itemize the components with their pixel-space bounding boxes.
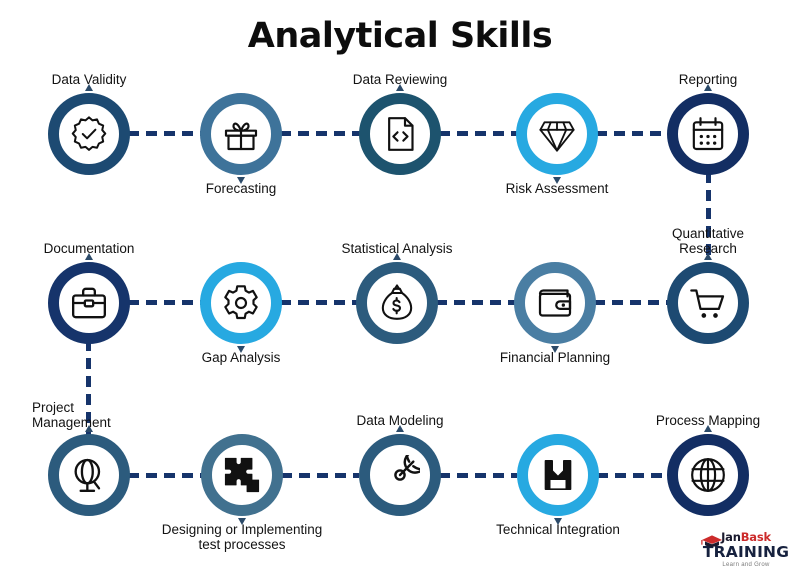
node-ring: [516, 93, 598, 175]
node-label: Statistical Analysis: [282, 241, 512, 256]
target-arrow-icon: [380, 455, 420, 495]
node-documentation[interactable]: Documentation: [48, 262, 130, 344]
node-ring: [200, 93, 282, 175]
node-statistical-analysis[interactable]: Statistical Analysis: [356, 262, 438, 344]
node-ring: [359, 93, 441, 175]
node-ring: [200, 262, 282, 344]
node-label: Data Validity: [0, 72, 204, 87]
janbask-logo[interactable]: JanBask TRAINING Learn and Grow: [700, 532, 792, 568]
logo-name-part1: Jan: [721, 530, 741, 544]
infographic-canvas: Analytical Skills Data Validity: [0, 0, 800, 576]
gear-icon: [221, 283, 261, 323]
connector-row2-b: [280, 300, 358, 305]
code-document-icon: [380, 114, 420, 154]
node-ring: [514, 262, 596, 344]
connector-row1-b: [280, 131, 362, 136]
node-ring: [48, 93, 130, 175]
connector-row3-b: [281, 473, 359, 478]
node-ring: [48, 434, 130, 516]
calendar-icon: [688, 114, 728, 154]
node-reporting[interactable]: Reporting: [667, 93, 749, 175]
connector-row2-d: [594, 300, 668, 305]
node-label: Technical Integration: [443, 522, 673, 537]
node-gap-analysis[interactable]: Gap Analysis: [200, 262, 282, 344]
node-process-mapping[interactable]: Process Mapping: [667, 434, 749, 516]
node-technical-integration[interactable]: Technical Integration: [517, 434, 599, 516]
node-ring: [359, 434, 441, 516]
gift-box-icon: [221, 114, 261, 154]
node-ring: [667, 434, 749, 516]
node-financial-planning[interactable]: Financial Planning: [514, 262, 596, 344]
node-label: Project Management: [32, 400, 212, 430]
logo-name-part2: Bask: [741, 530, 771, 544]
connector-row2-c: [436, 300, 516, 305]
node-label: Quantitative Research: [593, 226, 800, 256]
node-project-management[interactable]: Project Management: [48, 434, 130, 516]
logo-tagline: Learn and Grow: [700, 562, 792, 568]
connector-row1-d: [596, 131, 670, 136]
graduation-cap-icon: [701, 533, 723, 547]
briefcase-icon: [69, 283, 109, 323]
node-quantitative-research[interactable]: Quantitative Research: [667, 262, 749, 344]
node-label: Designing or Implementing test processes: [112, 522, 372, 552]
shopping-cart-icon: [688, 283, 728, 323]
connector-row2-a: [128, 300, 202, 305]
connector-row3-d: [597, 473, 669, 478]
node-ring: [517, 434, 599, 516]
node-label: Financial Planning: [440, 350, 670, 365]
node-label: Process Mapping: [593, 413, 800, 428]
globe-icon: [688, 455, 728, 495]
page-title: Analytical Skills: [0, 16, 800, 56]
connector-row1-a: [128, 131, 204, 136]
badge-check-icon: [69, 114, 109, 154]
puzzle-icon: [222, 455, 262, 495]
node-ring: [667, 262, 749, 344]
node-ring: [201, 434, 283, 516]
node-data-modeling[interactable]: Data Modeling: [359, 434, 441, 516]
node-data-validity[interactable]: Data Validity: [48, 93, 130, 175]
inbox-tray-icon: [538, 455, 578, 495]
connector-row3-c: [439, 473, 517, 478]
node-label: Forecasting: [126, 181, 356, 196]
node-label: Reporting: [593, 72, 800, 87]
node-label: Risk Assessment: [442, 181, 672, 196]
node-ring: [667, 93, 749, 175]
node-forecasting[interactable]: Forecasting: [200, 93, 282, 175]
node-risk-assessment[interactable]: Risk Assessment: [516, 93, 598, 175]
node-label: Data Modeling: [285, 413, 515, 428]
connector-row3-a: [128, 473, 202, 478]
node-ring: [48, 262, 130, 344]
desk-globe-icon: [69, 455, 109, 495]
node-designing-test-processes[interactable]: Designing or Implementing test processes: [201, 434, 283, 516]
node-label: Gap Analysis: [126, 350, 356, 365]
connector-row1-c: [439, 131, 519, 136]
node-label: Documentation: [0, 241, 204, 256]
node-data-reviewing[interactable]: Data Reviewing: [359, 93, 441, 175]
money-bag-icon: [377, 283, 417, 323]
node-label: Data Reviewing: [285, 72, 515, 87]
wallet-icon: [535, 283, 575, 323]
diamond-icon: [537, 114, 577, 154]
node-ring: [356, 262, 438, 344]
